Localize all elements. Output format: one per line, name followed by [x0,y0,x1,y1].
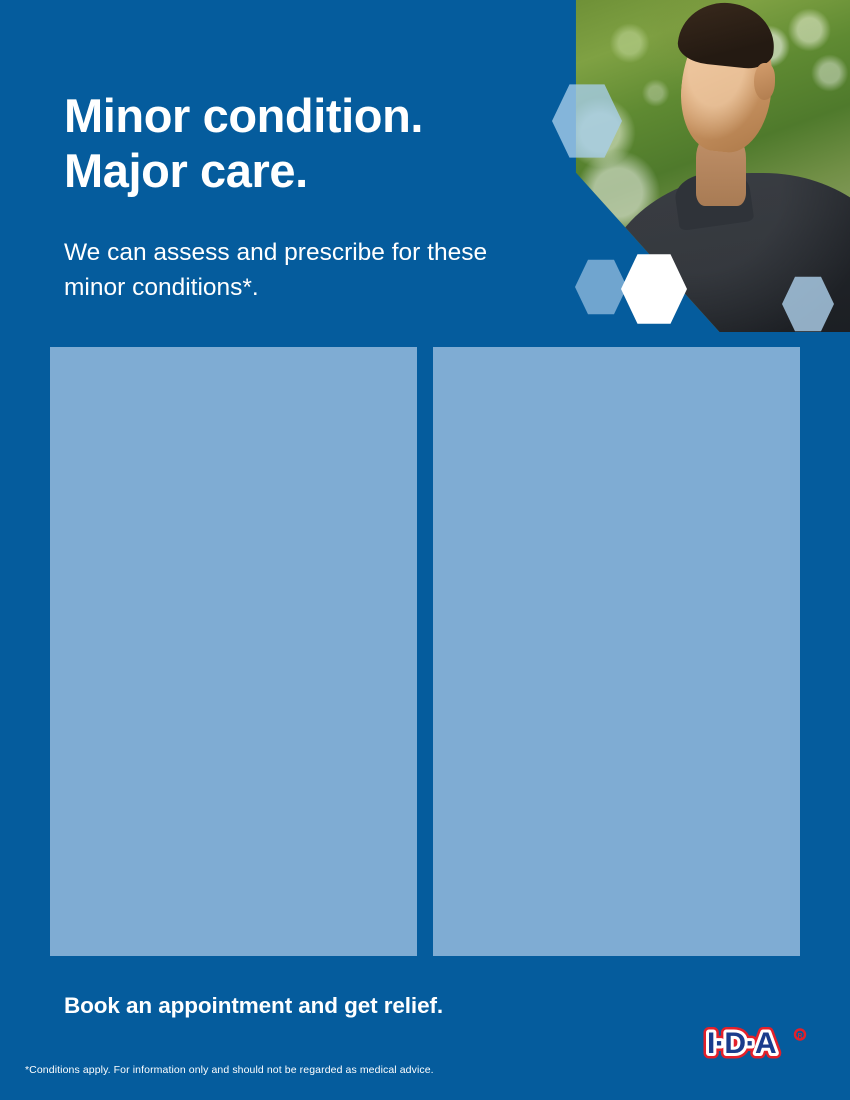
headline-line-1: Minor condition. [64,88,584,143]
headline-line-2: Major care. [64,143,584,198]
ida-logo-registered-letter: R [797,1033,802,1040]
poster-canvas: Minor condition. Major care. We can asse… [0,0,850,1100]
subheading-line-1: We can assess and prescribe for these [64,236,564,271]
conditions-panel-right [433,347,800,956]
ida-logo-letters: I·D·A [707,1027,776,1060]
subheading: We can assess and prescribe for these mi… [64,236,564,306]
ida-logo: I·D·A I·D·A I·D·A R [703,1024,811,1064]
subheading-line-2: minor conditions*. [64,271,564,306]
conditions-panel-left [50,347,417,956]
disclaimer-text: *Conditions apply. For information only … [25,1064,434,1076]
hero-subject-ear [754,63,774,100]
headline: Minor condition. Major care. [64,88,584,199]
hexagon-muted-blue-icon [575,258,627,316]
cta-text: Book an appointment and get relief. [64,993,443,1019]
